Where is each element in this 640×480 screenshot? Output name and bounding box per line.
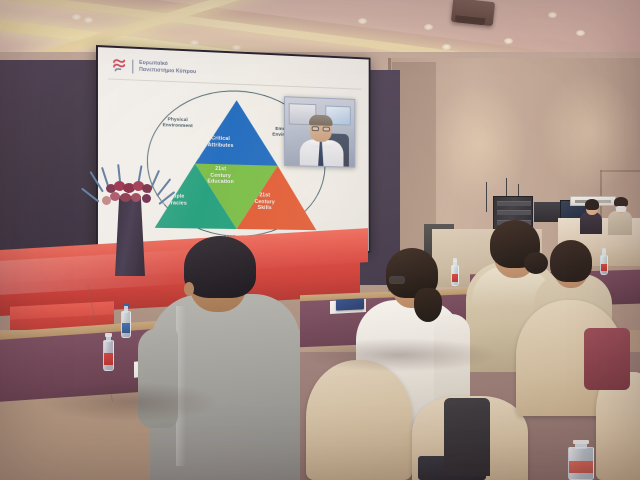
downlight-icon <box>504 38 513 44</box>
staff-torso <box>608 211 632 235</box>
segment-label-right: 21st Century Skills <box>242 192 287 212</box>
rack-unit <box>497 201 531 206</box>
dark-wall-panel-left <box>0 60 104 275</box>
segment-label-center-line3: Education <box>195 178 246 186</box>
university-emblem-icon <box>112 58 127 74</box>
flower-blossom <box>120 193 131 202</box>
slide-divider-rule <box>108 78 362 89</box>
hair-ponytail <box>414 288 442 322</box>
flower-blossom <box>110 192 120 201</box>
flower-blossom <box>142 184 152 193</box>
hair <box>550 240 592 282</box>
logo-divider <box>132 59 133 73</box>
institution-logo: Ευρωπαϊκό Πανεπιστήμιο Κύπρου <box>112 58 196 76</box>
glasses-icon <box>389 276 405 284</box>
flower-blossom <box>102 196 111 205</box>
water-bottle <box>600 248 608 275</box>
banquet-chair <box>306 360 412 480</box>
water-bottle <box>103 333 114 371</box>
floral-arrangement <box>96 168 164 214</box>
segment-label-center: 21st Century Education <box>195 166 246 187</box>
mic-stand <box>486 182 487 212</box>
floor-shadow <box>40 382 220 422</box>
triangle-segment-top <box>195 99 278 166</box>
rack-unit <box>497 210 531 215</box>
logo-line-2: Πανεπιστήμιο Κύπρου <box>139 66 196 75</box>
downlight-icon <box>232 45 241 51</box>
water-bottle <box>121 304 131 338</box>
downlight-icon <box>358 18 367 24</box>
downlight-icon <box>442 44 451 50</box>
downlight-icon <box>72 14 81 20</box>
staff-torso <box>580 212 602 234</box>
ear <box>184 282 194 296</box>
ceiling-projector <box>451 0 495 26</box>
dark-garment <box>444 398 490 476</box>
notebook <box>336 298 364 310</box>
downlight-icon <box>576 30 585 36</box>
downlight-icon <box>424 24 433 30</box>
handbag <box>584 328 630 390</box>
water-bottle <box>568 440 594 480</box>
staff-hair <box>585 199 599 210</box>
glasses-icon <box>312 126 330 131</box>
remote-speaker-hair <box>309 115 333 126</box>
downlight-icon <box>548 12 557 18</box>
floor-shadow <box>300 338 500 372</box>
flower-blossom <box>142 194 151 203</box>
downlight-icon <box>84 17 93 23</box>
hair-bun <box>524 252 548 274</box>
segment-label-top: Critical Attributes <box>195 135 246 149</box>
hair <box>184 236 256 298</box>
door-header <box>600 170 640 172</box>
water-bottle <box>451 258 459 286</box>
outer-label-physical: Physical Environment <box>155 117 201 130</box>
flower-blossom <box>131 193 141 202</box>
downlight-icon <box>190 40 199 46</box>
segment-label-right-line3: Skills <box>242 205 287 212</box>
remote-speaker-video-tile <box>284 96 355 167</box>
conference-room-photo: Ευρωπαϊκό Πανεπιστήμιο Κύπρου Critical <box>0 0 640 480</box>
face-mask-icon <box>616 206 626 212</box>
logo-wordmark: Ευρωπαϊκό Πανεπιστήμιο Κύπρου <box>139 60 196 75</box>
